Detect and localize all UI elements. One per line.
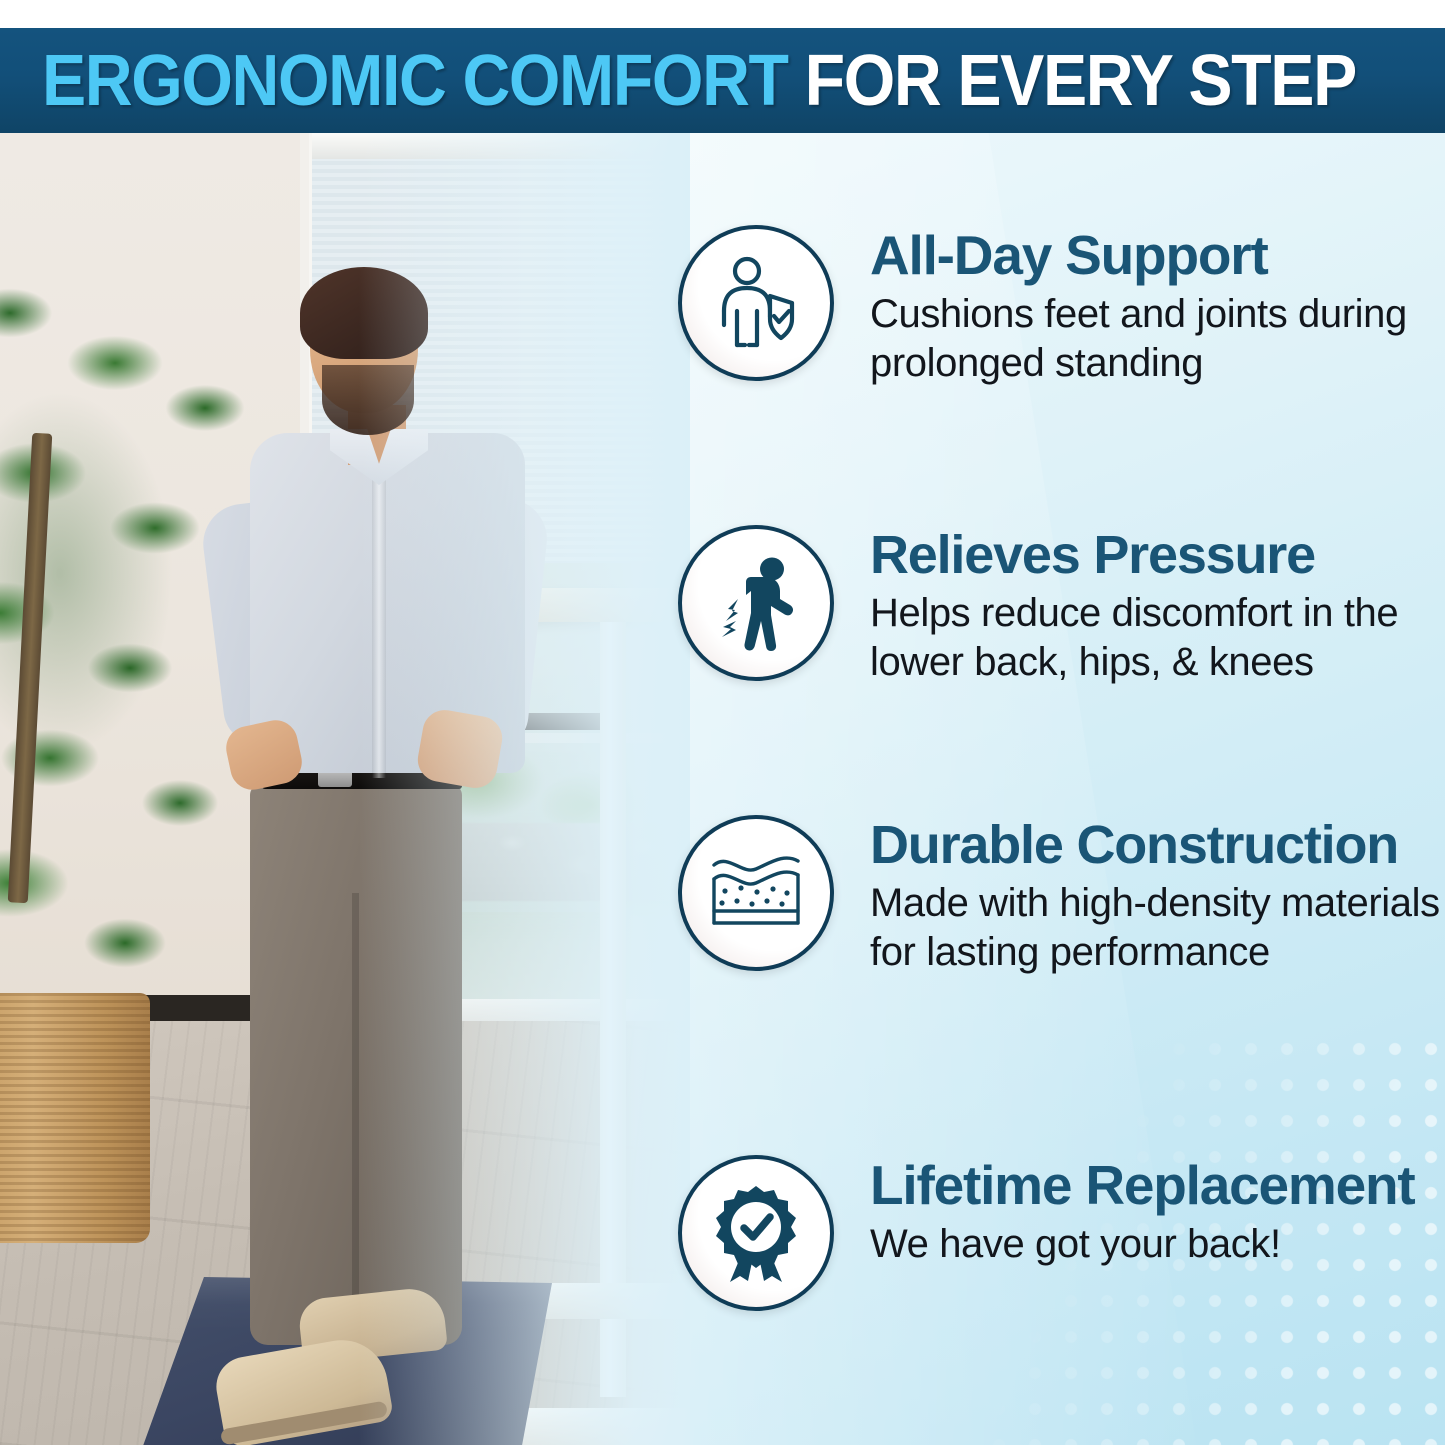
photo-model-shirt-placket xyxy=(372,478,386,778)
feature-description: Helps reduce discomfort in the lower bac… xyxy=(870,589,1445,687)
photo-plant-basket-pot xyxy=(0,993,150,1243)
photo-model-beard xyxy=(322,365,414,435)
back-pain-person-icon xyxy=(678,525,834,681)
feature-description: Made with high-density materials for las… xyxy=(870,879,1445,977)
person-shield-icon xyxy=(678,225,834,381)
feature-text-block: All-Day Support Cushions feet and joints… xyxy=(870,225,1445,388)
feature-text-block: Durable Construction Made with high-dens… xyxy=(870,815,1445,977)
page-title-accent: ERGONOMIC COMFORT xyxy=(42,41,788,121)
photo-shade-roller xyxy=(312,133,688,159)
feature-text-block: Relieves Pressure Helps reduce discomfor… xyxy=(870,525,1445,687)
feature-title: Durable Construction xyxy=(870,817,1445,873)
feature-description: We have got your back! xyxy=(870,1220,1415,1269)
body-area: All-Day Support Cushions feet and joints… xyxy=(0,133,1445,1445)
foam-layers-icon xyxy=(678,815,834,971)
product-photo xyxy=(0,133,690,1445)
header-banner: ERGONOMIC COMFORT FOR EVERY STEP xyxy=(0,28,1445,133)
award-ribbon-check-icon xyxy=(678,1155,834,1311)
photo-desk-leg xyxy=(600,622,626,1397)
photo-model-leg-crease xyxy=(352,893,359,1343)
feature-list: All-Day Support Cushions feet and joints… xyxy=(640,133,1445,1445)
page-title: ERGONOMIC COMFORT FOR EVERY STEP xyxy=(42,45,1356,117)
feature-item-lifetime-replacement: Lifetime Replacement We have got your ba… xyxy=(640,1155,1445,1311)
page-title-rest: FOR EVERY STEP xyxy=(788,41,1356,121)
feature-title: All-Day Support xyxy=(870,227,1445,284)
feature-title: Relieves Pressure xyxy=(870,527,1445,583)
photo-model-right-hand xyxy=(414,707,505,792)
feature-description: Cushions feet and joints during prolonge… xyxy=(870,290,1445,388)
feature-item-durable-construction: Durable Construction Made with high-dens… xyxy=(640,815,1445,977)
feature-title: Lifetime Replacement xyxy=(870,1157,1415,1214)
top-white-strip xyxy=(0,0,1445,28)
feature-text-block: Lifetime Replacement We have got your ba… xyxy=(870,1155,1415,1269)
photo-model-hair xyxy=(300,267,428,359)
infographic-canvas: ERGONOMIC COMFORT FOR EVERY STEP xyxy=(0,0,1445,1445)
feature-item-relieves-pressure: Relieves Pressure Helps reduce discomfor… xyxy=(640,525,1445,687)
feature-item-all-day-support: All-Day Support Cushions feet and joints… xyxy=(640,225,1445,388)
